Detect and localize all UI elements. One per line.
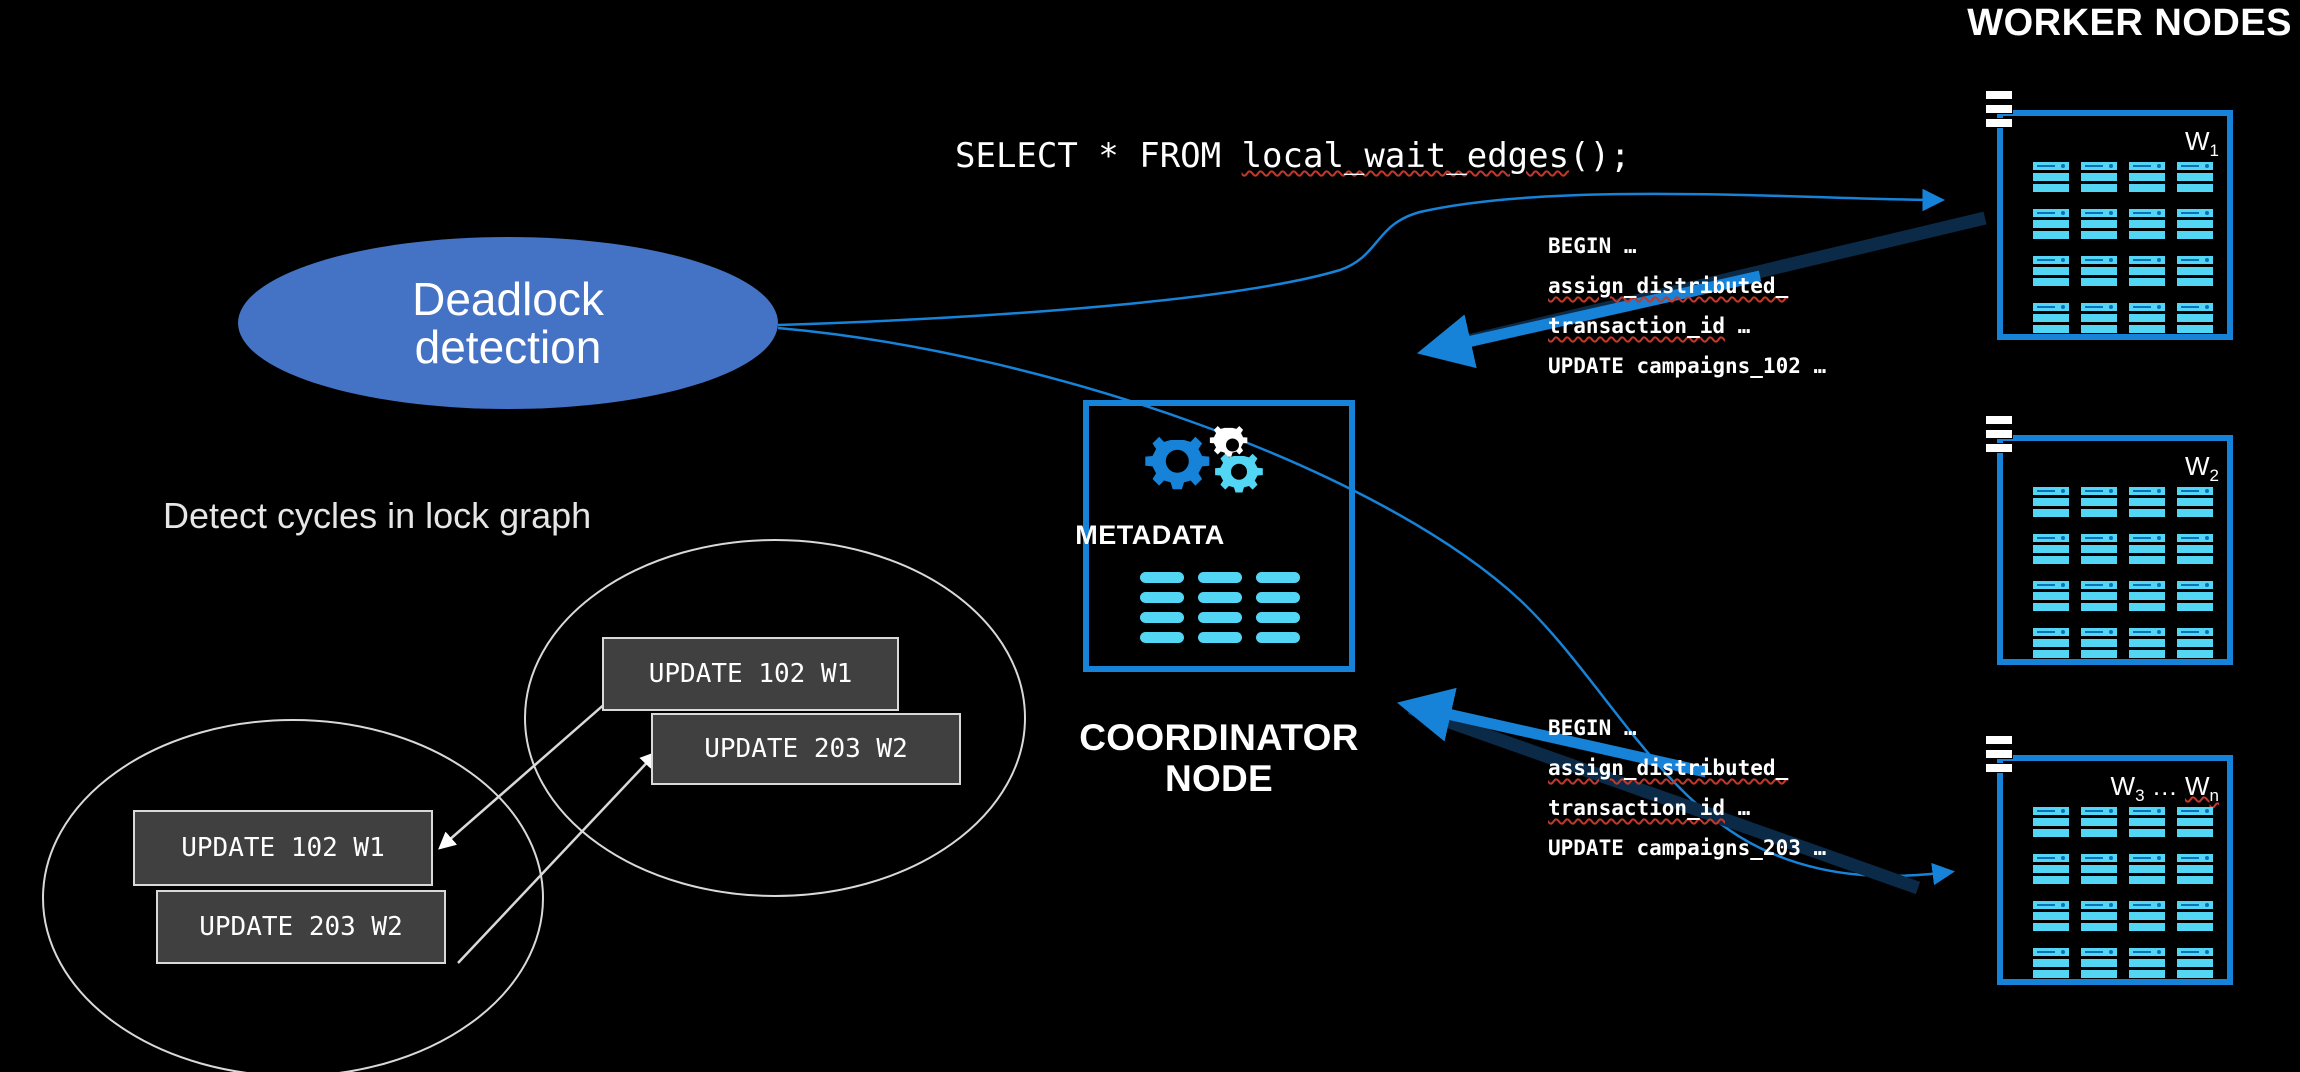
worker-node-2[interactable]: W2	[1997, 435, 2233, 665]
gear-cyan-icon	[1215, 454, 1263, 493]
worker-3-label: W3 … Wn	[2111, 771, 2219, 806]
shard-icon	[2033, 162, 2069, 195]
worker-3-stack-icon	[1985, 735, 2013, 775]
shard-icon	[2033, 256, 2069, 289]
shard-icon	[2081, 901, 2117, 934]
gear-blue-icon	[1145, 437, 1209, 490]
worker-3-label-text: W	[2111, 771, 2136, 801]
txn-bottom-line-4: UPDATE campaigns_203 …	[1548, 828, 1826, 868]
shard-icon	[2177, 303, 2213, 336]
shard-icon	[2081, 807, 2117, 840]
shard-icon	[2033, 209, 2069, 242]
worker-1-shard-grid	[2033, 162, 2213, 336]
worker-1-label-text: W	[2185, 126, 2210, 156]
deadlock-detection-label: Deadlock detection	[412, 275, 604, 372]
transaction-snippet-bottom: BEGIN … assign_distributed_ transaction_…	[1548, 708, 1826, 868]
metadata-text: METADATA	[1075, 520, 1224, 550]
worker-n-label-sub: n	[2210, 786, 2219, 805]
txn-bottom-line-1: BEGIN …	[1548, 708, 1826, 748]
shard-icon	[2033, 303, 2069, 336]
shard-icon	[2081, 303, 2117, 336]
sql-function-name: local_wait_edges	[1242, 136, 1570, 176]
txn-top-line-2: assign_distributed_	[1548, 266, 1826, 306]
shard-icon	[2129, 581, 2165, 614]
worker-3-label-sub: 3	[2135, 786, 2144, 805]
shard-icon	[2177, 948, 2213, 981]
shard-icon	[2081, 487, 2117, 520]
shard-icon	[2177, 534, 2213, 567]
lock-node-upper-203[interactable]: UPDATE 203 W2	[651, 713, 961, 785]
coordinator-line-1: COORDINATOR	[1063, 718, 1375, 759]
shard-icon	[2033, 807, 2069, 840]
sql-prefix: SELECT * FROM	[955, 136, 1242, 176]
shard-icon	[2081, 854, 2117, 887]
worker-2-shard-grid	[2033, 487, 2213, 661]
shard-icon	[2033, 487, 2069, 520]
lock-node-upper-102[interactable]: UPDATE 102 W1	[602, 637, 899, 711]
shard-icon	[2081, 628, 2117, 661]
shard-icon	[2033, 581, 2069, 614]
shard-icon	[2177, 162, 2213, 195]
txn-bottom-line-2: assign_distributed_	[1548, 748, 1826, 788]
shard-icon	[2129, 162, 2165, 195]
coordinator-node-label: COORDINATOR NODE	[1063, 718, 1375, 799]
diagram-canvas: WORKER NODES SELECT * FROM local_wait_ed…	[0, 0, 2300, 1072]
txn-top-line-4: UPDATE campaigns_102 …	[1548, 346, 1826, 386]
lock-node-lower-102[interactable]: UPDATE 102 W1	[133, 810, 433, 886]
worker-3-label-sep: …	[2145, 771, 2185, 801]
worker-3-shard-grid	[2033, 807, 2213, 981]
shard-icon	[2129, 807, 2165, 840]
shard-icon	[2033, 948, 2069, 981]
shard-icon	[2177, 209, 2213, 242]
sql-query-text: SELECT * FROM local_wait_edges();	[955, 136, 1631, 176]
shard-icon	[2033, 534, 2069, 567]
shard-icon	[2081, 162, 2117, 195]
shard-icon	[2129, 256, 2165, 289]
worker-n-label-text: W	[2185, 771, 2210, 801]
worker-nodes-title: WORKER NODES	[1967, 2, 2292, 45]
shard-icon	[2033, 628, 2069, 661]
worker-2-label: W2	[2185, 451, 2219, 486]
worker-1-stack-icon	[1985, 90, 2013, 130]
shard-icon	[2177, 256, 2213, 289]
worker-1-label-sub: 1	[2210, 141, 2219, 160]
shard-icon	[2177, 628, 2213, 661]
deadlock-line-2: detection	[412, 323, 604, 371]
shard-icon	[2081, 948, 2117, 981]
shard-icon	[2129, 487, 2165, 520]
shard-icon	[2129, 901, 2165, 934]
worker-1-label: W1	[2185, 126, 2219, 161]
txn-top-line-3: transaction_id …	[1548, 306, 1826, 346]
transaction-snippet-top: BEGIN … assign_distributed_ transaction_…	[1548, 226, 1826, 386]
arrow-lower-to-upper	[458, 753, 656, 963]
shard-icon	[2081, 581, 2117, 614]
worker-node-3[interactable]: W3 … Wn	[1997, 755, 2233, 985]
worker-2-label-sub: 2	[2210, 466, 2219, 485]
metadata-label: METADATA	[0, 520, 2300, 551]
sql-suffix: ();	[1569, 136, 1630, 176]
txn-top-line-1: BEGIN …	[1548, 226, 1826, 266]
shard-icon	[2033, 854, 2069, 887]
shard-icon	[2129, 854, 2165, 887]
shard-icon	[2033, 901, 2069, 934]
shard-icon	[2177, 807, 2213, 840]
txn-bottom-line-3: transaction_id …	[1548, 788, 1826, 828]
shard-icon	[2177, 581, 2213, 614]
shard-icon	[2129, 209, 2165, 242]
worker-2-stack-icon	[1985, 415, 2013, 455]
worker-2-label-text: W	[2185, 451, 2210, 481]
shard-icon	[2177, 901, 2213, 934]
deadlock-detection-node[interactable]: Deadlock detection	[238, 237, 778, 409]
shard-icon	[2129, 948, 2165, 981]
coordinator-line-2: NODE	[1063, 759, 1375, 800]
shard-icon	[2081, 534, 2117, 567]
shard-icon	[2177, 854, 2213, 887]
shard-icon	[2177, 487, 2213, 520]
deadlock-line-1: Deadlock	[412, 275, 604, 323]
gear-white-icon	[1210, 426, 1247, 457]
shard-icon	[2129, 534, 2165, 567]
shard-icon	[2129, 628, 2165, 661]
shard-icon	[2081, 256, 2117, 289]
worker-node-1[interactable]: W1	[1997, 110, 2233, 340]
shard-icon	[2081, 209, 2117, 242]
shard-icon	[2129, 303, 2165, 336]
metadata-bars-icon	[1140, 572, 1300, 652]
metadata-gears-icon	[1140, 418, 1300, 508]
lock-node-lower-203[interactable]: UPDATE 203 W2	[156, 890, 446, 964]
